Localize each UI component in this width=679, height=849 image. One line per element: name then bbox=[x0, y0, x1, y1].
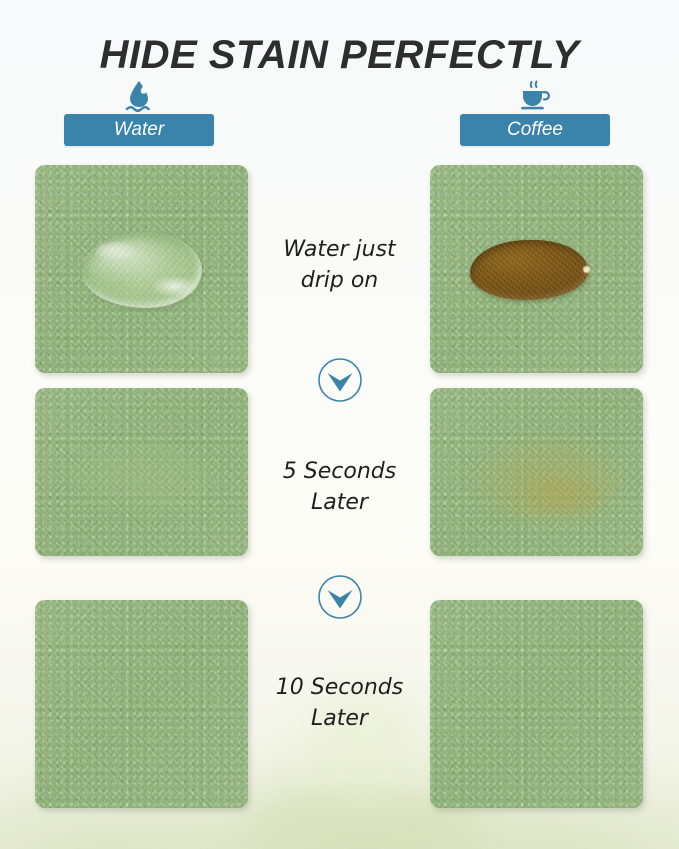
chevron-down-circle-icon bbox=[317, 574, 363, 620]
water-drop-icon bbox=[64, 80, 214, 116]
swatch-water-10-seconds bbox=[35, 600, 248, 808]
page-title: HIDE STAIN PERFECTLY bbox=[0, 33, 679, 78]
step-3-line-1: 10 Seconds bbox=[252, 672, 427, 703]
coffee-pool-overlay bbox=[470, 240, 588, 300]
swatch-water-5-seconds bbox=[35, 388, 248, 556]
category-label-coffee[interactable]: Coffee bbox=[460, 114, 610, 146]
step-2-line-1: 5 Seconds bbox=[252, 456, 427, 487]
water-droplet-overlay bbox=[82, 232, 202, 308]
step-label-10-seconds: 10 Seconds Later bbox=[252, 672, 427, 734]
category-label-water[interactable]: Water bbox=[64, 114, 214, 146]
swatch-coffee-5-seconds bbox=[430, 388, 643, 556]
step-label-drip-on: Water just drip on bbox=[252, 234, 427, 296]
step-label-5-seconds: 5 Seconds Later bbox=[252, 456, 427, 518]
damp-patch-overlay bbox=[69, 438, 217, 516]
step-1-line-1: Water just bbox=[252, 234, 427, 265]
coffee-cup-icon bbox=[460, 80, 610, 116]
step-3-line-2: Later bbox=[252, 703, 427, 734]
chevron-down-circle-icon bbox=[317, 357, 363, 403]
swatch-coffee-drip-on bbox=[430, 165, 643, 373]
swatch-coffee-10-seconds bbox=[430, 600, 643, 808]
swatch-water-drip-on bbox=[35, 165, 248, 373]
step-1-line-2: drip on bbox=[252, 265, 427, 296]
coffee-tint-overlay bbox=[473, 435, 623, 519]
infographic-root: HIDE STAIN PERFECTLY Water Coffee bbox=[0, 0, 679, 849]
step-2-line-2: Later bbox=[252, 487, 427, 518]
